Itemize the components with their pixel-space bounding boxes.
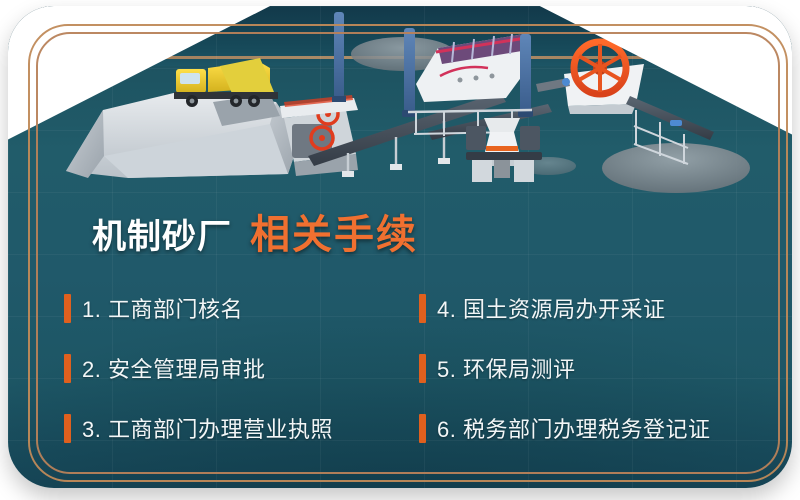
list-item-label: 6. 税务部门办理税务登记证 — [437, 412, 710, 444]
banner-stage: 机制砂厂 相关手续 1. 工商部门核名 4. 国土资源局办开采证 2. 安全管理… — [0, 0, 800, 500]
page-title: 机制砂厂 相关手续 — [92, 202, 418, 260]
list-item-label: 4. 国土资源局办开采证 — [437, 292, 665, 324]
list-item-label: 1. 工商部门核名 — [82, 292, 243, 324]
list-item: 6. 税务部门办理税务登记证 — [419, 398, 764, 458]
list-item-label: 5. 环保局测评 — [437, 352, 575, 384]
list-item-label: 2. 安全管理局审批 — [82, 352, 265, 384]
list-marker-icon — [419, 294, 426, 323]
title-plain: 机制砂厂 — [92, 209, 232, 258]
list-marker-icon — [64, 294, 71, 323]
list-marker-icon — [419, 354, 426, 383]
list-marker-icon — [64, 414, 71, 443]
list-item: 3. 工商部门办理营业执照 — [64, 398, 419, 458]
title-accent: 相关手续 — [250, 202, 418, 260]
list-item: 4. 国土资源局办开采证 — [419, 278, 764, 338]
list-item: 2. 安全管理局审批 — [64, 338, 419, 398]
support-tower-icon — [334, 12, 344, 98]
procedure-list: 1. 工商部门核名 4. 国土资源局办开采证 2. 安全管理局审批 5. 环保局… — [64, 278, 764, 458]
list-item: 1. 工商部门核名 — [64, 278, 419, 338]
list-item: 5. 环保局测评 — [419, 338, 764, 398]
stockpile-icon — [602, 143, 750, 193]
banner-panel: 机制砂厂 相关手续 1. 工商部门核名 4. 国土资源局办开采证 2. 安全管理… — [8, 6, 792, 488]
list-marker-icon — [64, 354, 71, 383]
list-item-label: 3. 工商部门办理营业执照 — [82, 412, 333, 444]
cone-crusher-icon — [466, 118, 542, 182]
list-marker-icon — [419, 414, 426, 443]
